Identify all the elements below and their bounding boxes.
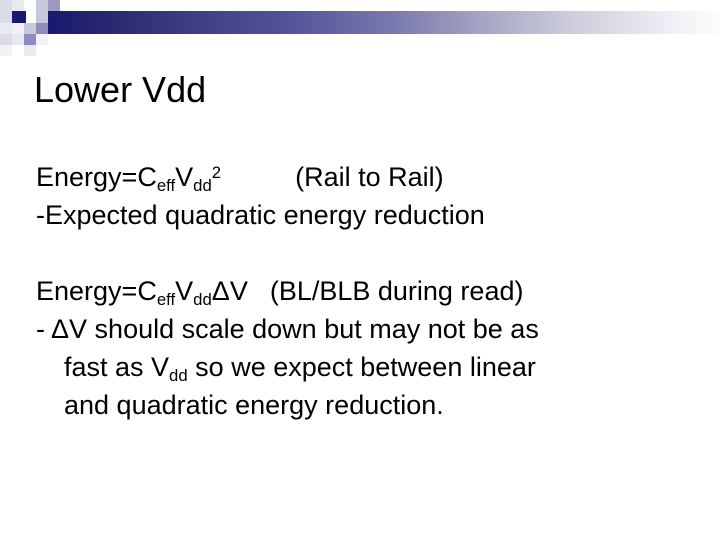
formula-subscript-dd: dd	[193, 176, 212, 195]
body-paragraph-2: Energy=CeffVddΔV(BL/BLB during read) - Δ…	[36, 272, 696, 424]
paragraph-spacer	[36, 234, 696, 272]
body-text-fast-as: fast as V	[64, 352, 169, 382]
slide-body: Energy=CeffVdd2(Rail to Rail) -Expected …	[36, 158, 696, 424]
mosaic-tile	[24, 23, 36, 34]
mosaic-tile	[12, 23, 24, 34]
header-gradient-bar	[48, 11, 720, 34]
mosaic-tile	[0, 34, 12, 45]
mosaic-tile	[36, 11, 48, 23]
body-line-deltav-scale: - ΔV should scale down but may not be as	[36, 310, 696, 348]
mosaic-tile	[48, 0, 60, 11]
formula-delta-v: ΔV	[212, 276, 248, 306]
body-line-fast-as-vdd: fast as Vdd so we expect between linear	[36, 348, 696, 386]
mosaic-tile	[36, 0, 48, 11]
mosaic-tile	[12, 0, 24, 11]
formula-subscript-eff: eff	[157, 176, 175, 195]
formula-line-energy-deltav: Energy=CeffVddΔV(BL/BLB during read)	[36, 272, 696, 310]
formula-prefix: Energy=C	[36, 276, 157, 306]
mosaic-tile	[24, 45, 36, 56]
mosaic-tile	[12, 34, 24, 45]
body-subscript-dd: dd	[169, 366, 188, 385]
slide-header-decoration	[0, 0, 720, 60]
page-title: Lower Vdd	[34, 68, 206, 112]
mosaic-tile	[12, 11, 26, 23]
body-line-expected-quadratic: -Expected quadratic energy reduction	[36, 196, 696, 234]
mosaic-tile	[0, 45, 12, 56]
slide: Lower Vdd Energy=CeffVdd2(Rail to Rail) …	[0, 0, 720, 540]
formula-variable-v: V	[175, 162, 193, 192]
mosaic-tile	[0, 11, 12, 23]
formula-subscript-dd: dd	[193, 290, 212, 309]
body-line-and-quadratic: and quadratic energy reduction.	[36, 386, 696, 424]
formula-subscript-eff: eff	[157, 290, 175, 309]
formula-note-bl-blb: (BL/BLB during read)	[270, 276, 524, 306]
mosaic-tile	[24, 34, 36, 45]
formula-note-rail-to-rail: (Rail to Rail)	[295, 162, 444, 192]
formula-variable-v: V	[175, 276, 193, 306]
formula-line-energy-quadratic: Energy=CeffVdd2(Rail to Rail)	[36, 158, 696, 196]
formula-exponent: 2	[212, 163, 221, 182]
mosaic-tile	[0, 0, 12, 11]
mosaic-tile	[0, 23, 12, 34]
mosaic-tile	[36, 34, 48, 45]
body-text-expect-linear: so we expect between linear	[188, 352, 536, 382]
body-paragraph-1: Energy=CeffVdd2(Rail to Rail) -Expected …	[36, 158, 696, 234]
formula-prefix: Energy=C	[36, 162, 157, 192]
mosaic-tile	[36, 23, 48, 34]
